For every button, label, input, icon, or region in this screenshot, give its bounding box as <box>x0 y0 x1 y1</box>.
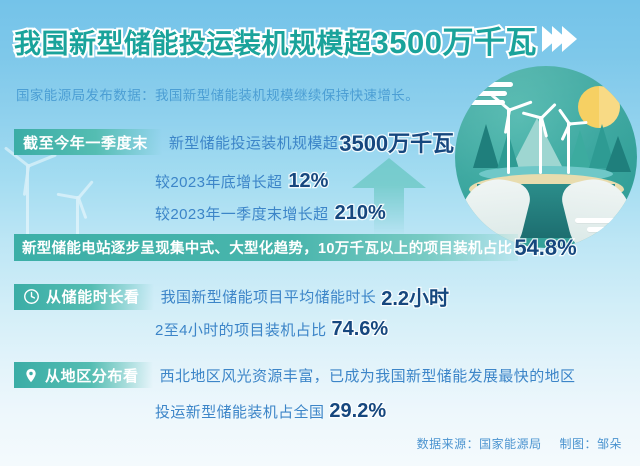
cloud-icon <box>575 218 629 236</box>
row1-tag-label: 截至今年一季度末 <box>23 132 148 153</box>
stat-row-1: 截至今年一季度末 新型储能投运装机规模超 3500万千瓦 <box>14 126 455 158</box>
row3-value: 210% <box>335 202 386 225</box>
row5-value: 2.2小时 <box>381 282 449 311</box>
row5-tag: 从储能时长看 <box>14 284 154 310</box>
row5-text: 我国新型储能项目平均储能时长 <box>161 286 377 307</box>
row2-value: 12% <box>288 170 328 193</box>
cloud-icon <box>459 82 519 109</box>
water-shape <box>479 166 613 182</box>
pine-tree-icon <box>589 124 615 168</box>
title-main: 我国新型储能投运装机规模超 <box>14 29 372 59</box>
row7-tag-label: 从地区分布看 <box>45 365 139 386</box>
row1-tag: 截至今年一季度末 <box>14 129 162 155</box>
row1-text: 新型储能投运装机规模超 <box>169 132 338 153</box>
footer-credit: 数据来源：国家能源局 制图：邹朵 <box>403 435 622 452</box>
row4-value: 54.8% <box>514 235 576 261</box>
row8-value: 29.2% <box>329 400 386 423</box>
infographic-poster: 我国新型储能投运装机规模超3500万千瓦 国家能源局发布数据：我国新型储能装机规… <box>0 0 640 466</box>
map-pin-icon <box>23 367 39 384</box>
clock-icon <box>23 288 40 305</box>
stat-row-2: 较2023年底增长超 12% <box>155 170 329 193</box>
pine-tree-icon <box>473 124 499 168</box>
row4-banner: 新型储能电站逐步呈现集中式、大型化趋势，10万千瓦以上的项目装机占比 <box>14 234 518 261</box>
stat-row-8: 投运新型储能装机占全国 29.2% <box>155 400 387 423</box>
chevron-group <box>547 26 577 52</box>
stat-row-6: 2至4小时的项目装机占比 74.6% <box>155 318 389 341</box>
row7-text: 西北地区风光资源丰富，已成为我国新型储能发展最快的地区 <box>160 365 576 386</box>
row7-tag: 从地区分布看 <box>14 362 153 388</box>
row3-text: 较2023年一季度末增长超 <box>155 203 329 224</box>
row6-text: 2至4小时的项目装机占比 <box>155 319 327 340</box>
row2-text: 较2023年底增长超 <box>155 171 282 192</box>
poster-title: 我国新型储能投运装机规模超3500万千瓦 <box>14 16 640 62</box>
row1-value: 3500万千瓦 <box>339 126 454 158</box>
stat-row-7: 从地区分布看 西北地区风光资源丰富，已成为我国新型储能发展最快的地区 <box>14 362 575 388</box>
mountain-shape <box>507 118 567 176</box>
intro-text: 国家能源局发布数据：我国新型储能装机规模继续保持快速增长。 <box>16 84 419 104</box>
pine-tree-icon <box>605 136 631 172</box>
row8-text: 投运新型储能装机占全国 <box>155 401 324 422</box>
stat-row-5: 从储能时长看 我国新型储能项目平均储能时长 2.2小时 <box>14 282 450 311</box>
stat-row-3: 较2023年一季度末增长超 210% <box>155 202 387 225</box>
footer-source: 数据来源：国家能源局 <box>417 437 542 451</box>
pine-tree-icon <box>567 130 593 174</box>
chevron-right-icon <box>562 26 577 52</box>
row6-value: 74.6% <box>332 318 389 341</box>
stat-row-4: 新型储能电站逐步呈现集中式、大型化趋势，10万千瓦以上的项目装机占比 54.8% <box>14 234 578 261</box>
row4-banner-label: 新型储能电站逐步呈现集中式、大型化趋势，10万千瓦以上的项目装机占比 <box>22 237 512 258</box>
row5-tag-label: 从储能时长看 <box>46 286 140 307</box>
sun-icon <box>578 86 620 128</box>
title-highlight: 3500万千瓦 <box>372 25 537 60</box>
pine-tree-icon <box>495 132 521 176</box>
energy-illustration <box>455 66 637 248</box>
island-body <box>477 184 615 238</box>
island-top <box>469 174 624 200</box>
footer-designer: 制图：邹朵 <box>559 437 622 451</box>
